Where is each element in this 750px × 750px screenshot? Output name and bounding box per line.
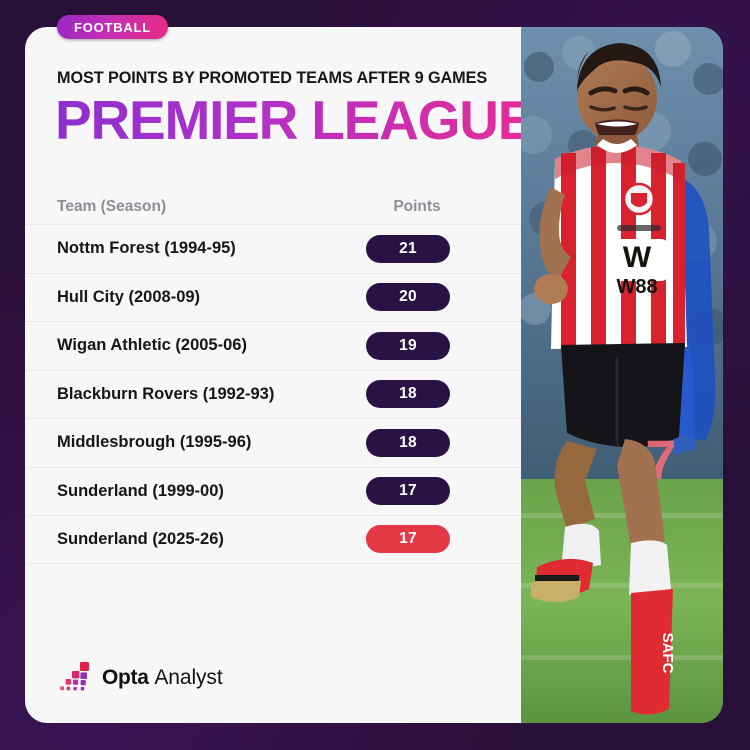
svg-text:W: W bbox=[623, 241, 652, 274]
table-row: Nottm Forest (1994-95) 21 bbox=[25, 224, 525, 273]
column-header-team: Team (Season) bbox=[57, 198, 166, 216]
table-row: Middlesbrough (1995-96) 18 bbox=[25, 418, 525, 467]
points-badge: 18 bbox=[366, 380, 450, 408]
team-name: Hull City (2008-09) bbox=[57, 288, 200, 307]
team-name: Sunderland (1999-00) bbox=[57, 482, 224, 501]
table-header: Team (Season) Points bbox=[25, 190, 525, 224]
points-badge: 19 bbox=[366, 332, 450, 360]
team-name: Blackburn Rovers (1992-93) bbox=[57, 385, 274, 404]
table-row: Hull City (2008-09) 20 bbox=[25, 273, 525, 322]
team-name: Middlesbrough (1995-96) bbox=[57, 433, 251, 452]
page-title: PREMIER LEAGUE bbox=[55, 93, 525, 148]
points-badge-highlighted: 17 bbox=[366, 525, 450, 553]
column-header-points: Points bbox=[372, 198, 462, 216]
page-subtitle: MOST POINTS BY PROMOTED TEAMS AFTER 9 GA… bbox=[57, 69, 490, 88]
team-name: Sunderland (2025-26) bbox=[57, 530, 224, 549]
content-card: MOST POINTS BY PROMOTED TEAMS AFTER 9 GA… bbox=[25, 27, 525, 723]
points-badge: 17 bbox=[366, 477, 450, 505]
player-photo-illustration: W W88 7 SAFC bbox=[521, 27, 723, 723]
table-row: Sunderland (1999-00) 17 bbox=[25, 467, 525, 516]
table-row: Wigan Athletic (2005-06) 19 bbox=[25, 321, 525, 370]
team-name: Nottm Forest (1994-95) bbox=[57, 239, 236, 258]
svg-text:W88: W88 bbox=[616, 276, 657, 298]
brand-analyst: Analyst bbox=[154, 666, 222, 689]
category-badge: FOOTBALL bbox=[57, 15, 168, 39]
table-body: Nottm Forest (1994-95) 21 Hull City (200… bbox=[25, 224, 525, 564]
points-badge: 21 bbox=[366, 235, 450, 263]
table-row: Sunderland (2025-26) 17 bbox=[25, 515, 525, 564]
points-badge: 20 bbox=[366, 283, 450, 311]
infographic-root: FOOTBALL MOST POINTS BY PROMOTED TEAMS A… bbox=[0, 0, 750, 750]
points-badge: 18 bbox=[366, 429, 450, 457]
opta-analyst-logo: Opta Analyst bbox=[57, 660, 223, 694]
table-row: Blackburn Rovers (1992-93) 18 bbox=[25, 370, 525, 419]
team-name: Wigan Athletic (2005-06) bbox=[57, 336, 247, 355]
svg-text:SAFC: SAFC bbox=[659, 633, 676, 674]
brand-wordmark: Opta Analyst bbox=[102, 667, 223, 688]
brand-opta: Opta bbox=[102, 666, 149, 689]
opta-staircase-icon bbox=[57, 660, 93, 694]
player-photo: W W88 7 SAFC bbox=[521, 27, 723, 723]
